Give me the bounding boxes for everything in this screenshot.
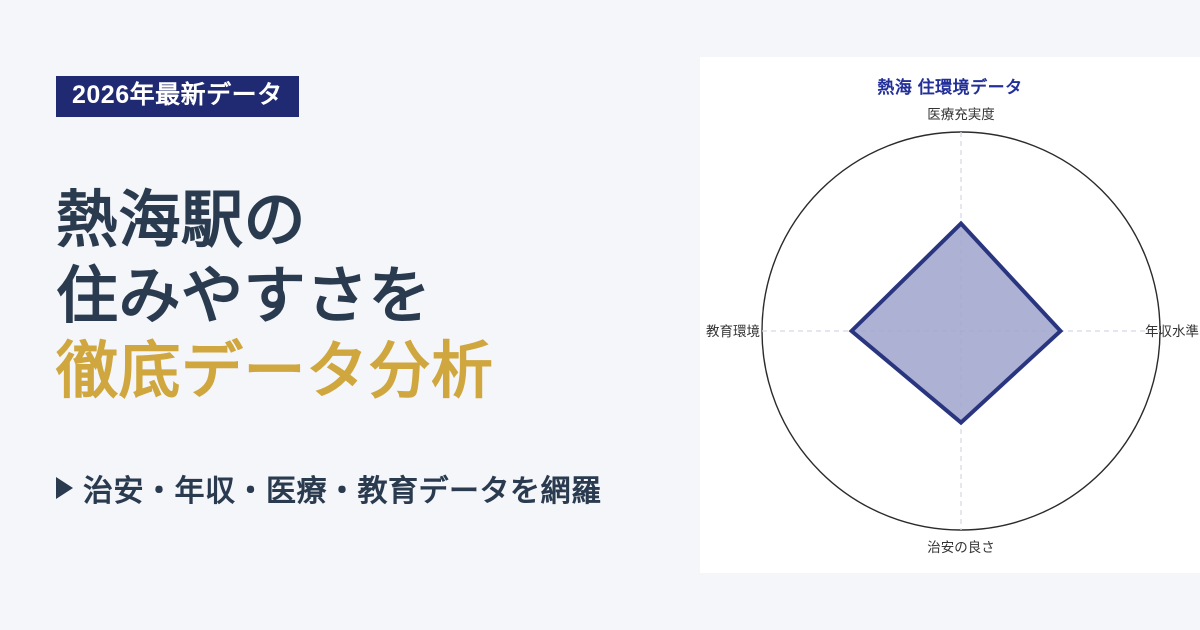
date-badge: 2026年最新データ (56, 76, 299, 117)
radar-chart-card: 熱海 住環境データ 医療充実度 年収水準 治安の良さ 教育環境 (700, 57, 1200, 573)
headline-line-2: 住みやすさを (56, 259, 676, 335)
radar-label-right: 年収水準 (1145, 324, 1199, 339)
headline-line-1: 熱海駅の (56, 183, 676, 259)
page-title: 熱海駅の 住みやすさを 徹底データ分析 (56, 183, 676, 410)
radar-label-top: 医療充実度 (927, 106, 995, 122)
radar-data-polygon (852, 224, 1061, 423)
subtitle: 治安・年収・医療・教育データを網羅 (56, 466, 602, 510)
left-content-column: 2026年最新データ 熱海駅の 住みやすさを 徹底データ分析 治安・年収・医療・… (56, 0, 696, 630)
headline-line-3: 徹底データ分析 (56, 334, 676, 410)
subtitle-text: 治安・年収・医療・教育データを網羅 (83, 466, 602, 510)
radar-label-left: 教育環境 (706, 324, 760, 339)
page-root: 2026年最新データ 熱海駅の 住みやすさを 徹底データ分析 治安・年収・医療・… (0, 0, 1200, 630)
radar-label-bottom: 治安の良さ (927, 540, 995, 555)
play-triangle-icon (56, 477, 73, 499)
radar-chart: 医療充実度 年収水準 治安の良さ 教育環境 (700, 57, 1200, 573)
